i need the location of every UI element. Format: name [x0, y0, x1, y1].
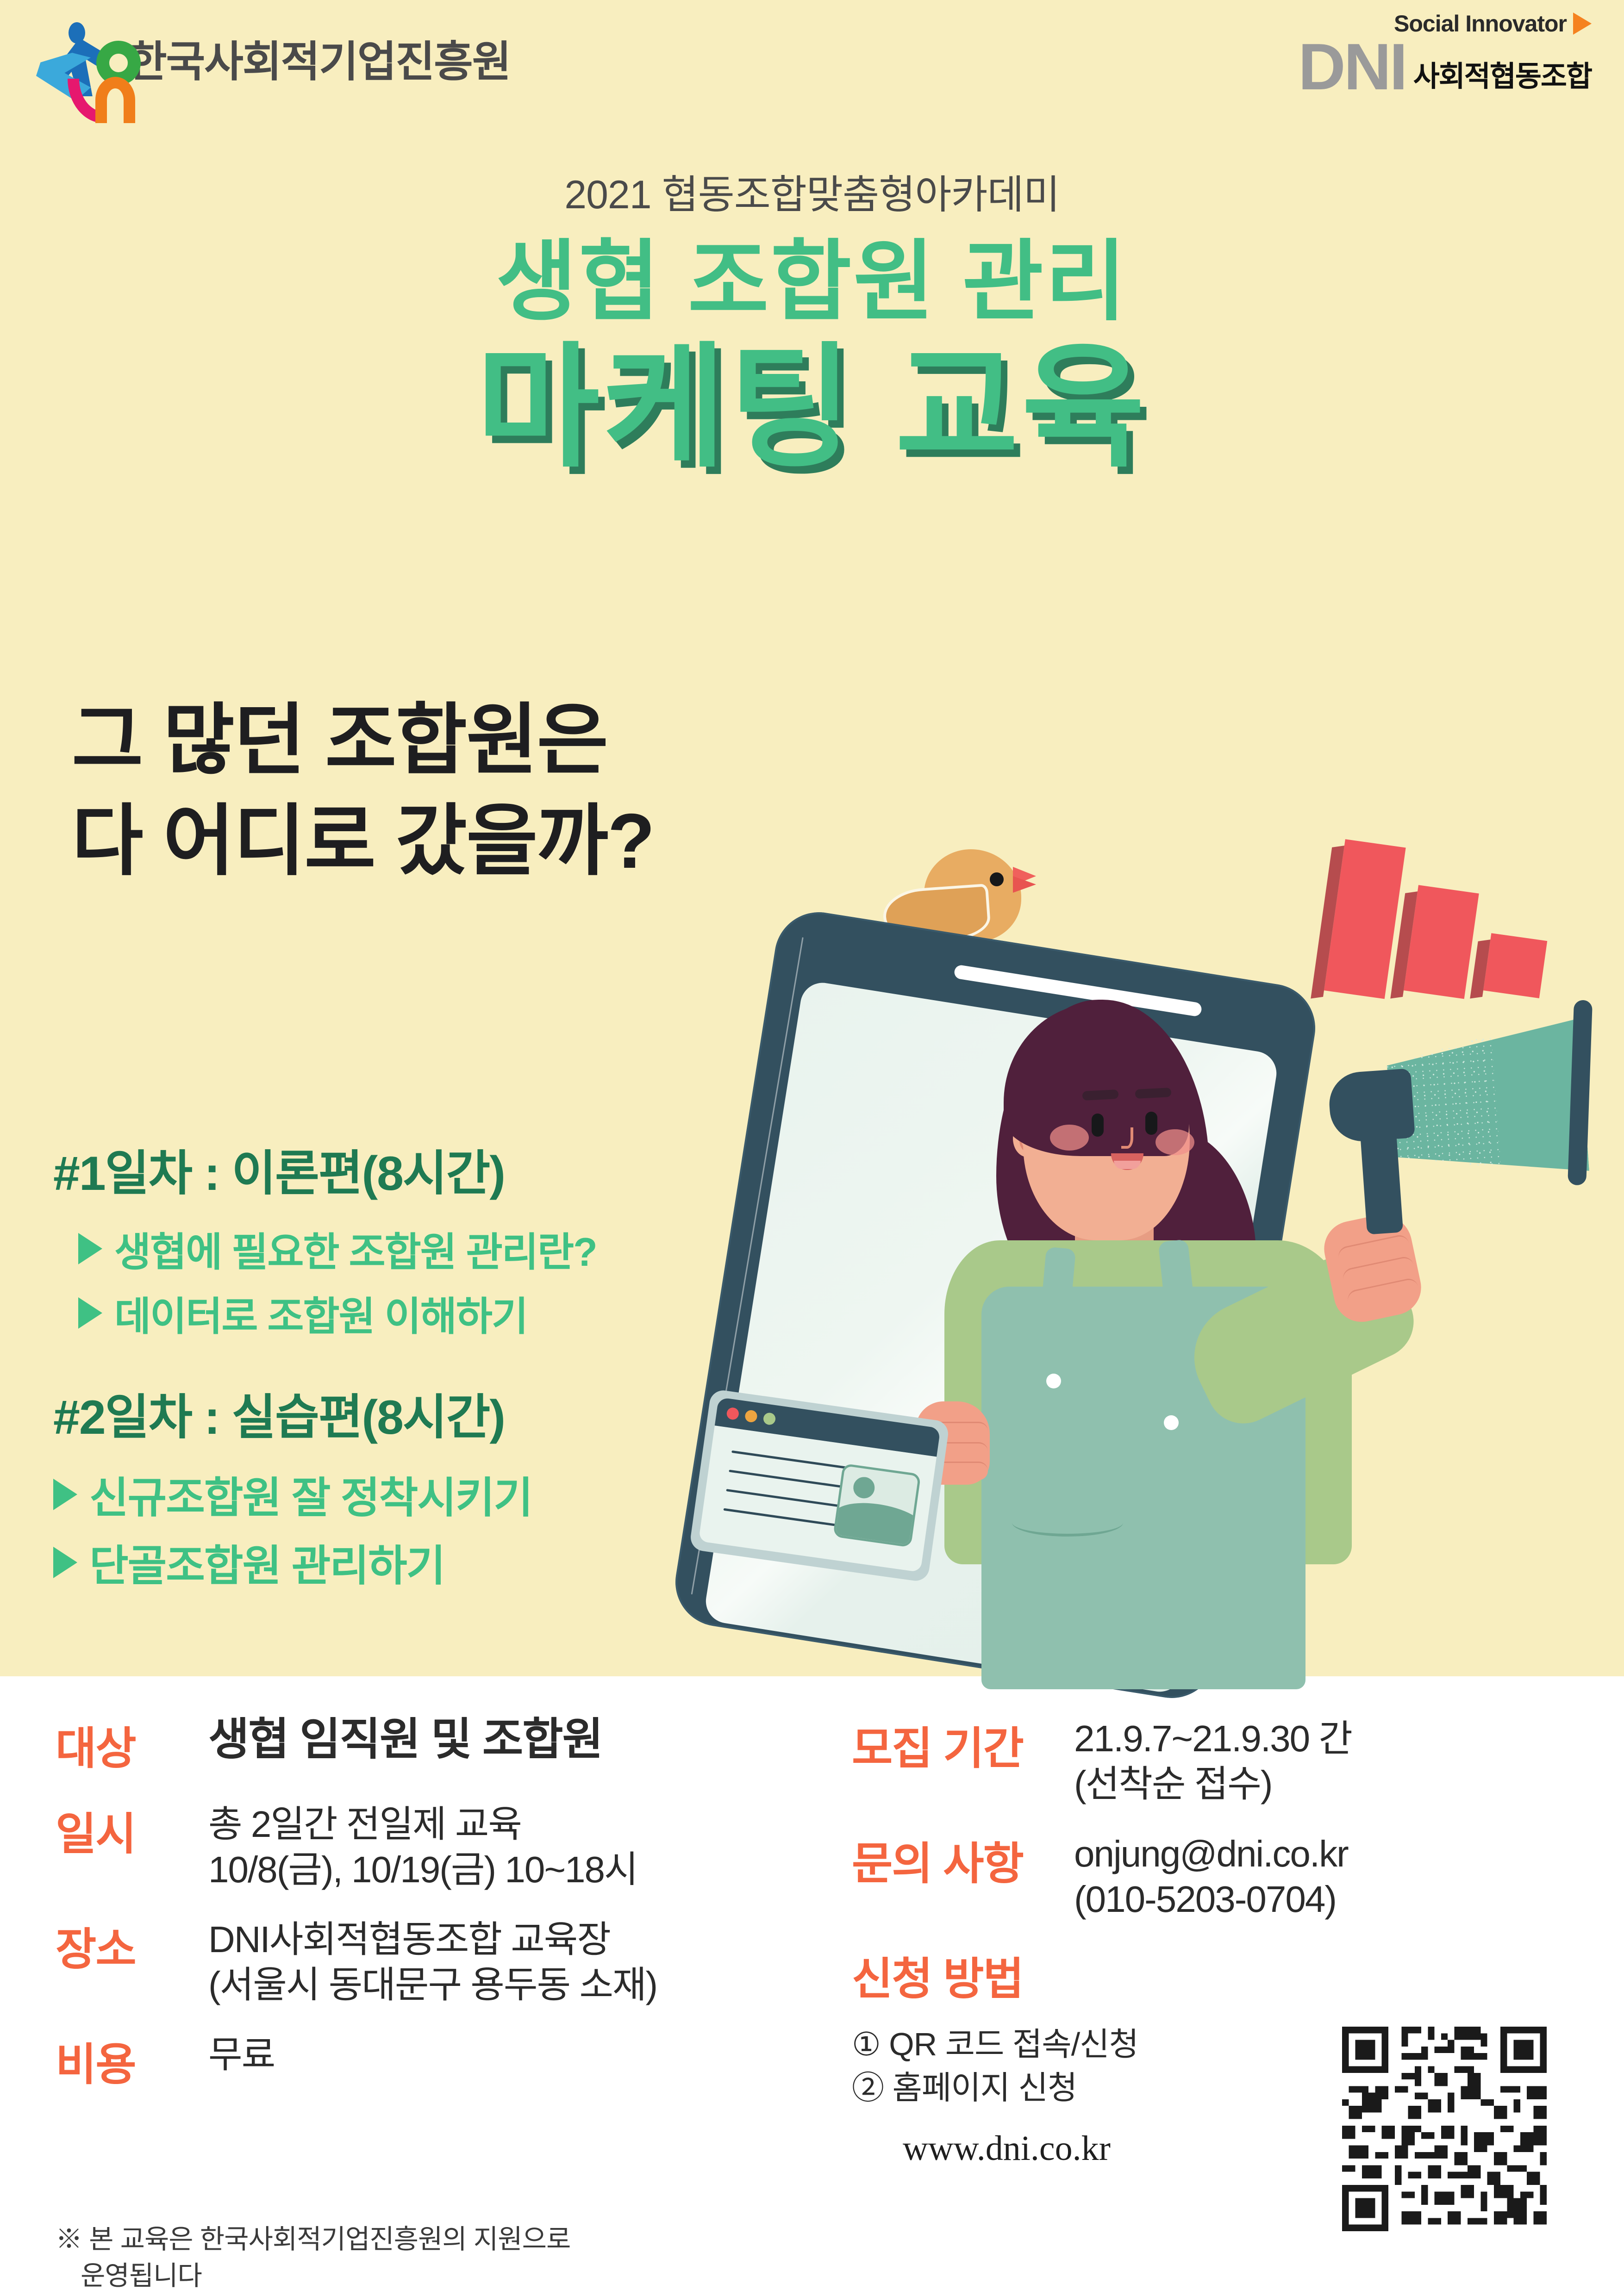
detail-value-target: 생협 임직원 및 조합원 — [208, 1712, 602, 1767]
tagline-line1: 그 많던 조합원은 — [72, 690, 654, 790]
detail-label-contact: 문의 사항 — [852, 1828, 1074, 1892]
detail-value-datetime: 총 2일간 전일제 교육 10/8(금), 10/19(금) 10~18시 — [208, 1798, 637, 1892]
triangle-bullet-icon — [53, 1547, 77, 1578]
details-right-column: 모집 기간 21.9.7~21.9.30 간 (선착순 접수) 문의 사항 on… — [852, 1712, 1593, 2169]
detail-value-venue: DNI사회적협동조합 교육장 (서울시 동대문구 용두동 소재) — [208, 1913, 657, 2007]
venue-line2: (서울시 동대문구 용두동 소재) — [208, 1962, 657, 2008]
detail-row-fee: 비용 무료 — [56, 2028, 806, 2093]
day2-item-2: 단골조합원 관리하기 — [53, 1531, 597, 1593]
day1-item-1-label: 생협에 필요한 조합원 관리란? — [114, 1220, 597, 1277]
day1-item-2: 데이터로 조합원 이해하기 — [78, 1284, 597, 1342]
hero-title-block: 생협 조합원 관리 마케팅 교육 — [0, 231, 1624, 483]
browser-minimize-dot-icon — [744, 1409, 758, 1423]
detail-label-target: 대상 — [56, 1712, 208, 1777]
detail-row-contact: 문의 사항 onjung@dni.co.kr (010-5203-0704) — [852, 1828, 1593, 1922]
detail-row-period: 모집 기간 21.9.7~21.9.30 간 (선착순 접수) — [852, 1712, 1593, 1806]
kosea-emblem-icon — [28, 14, 116, 102]
contact-email[interactable]: onjung@dni.co.kr — [1074, 1831, 1348, 1877]
triangle-bullet-icon — [53, 1479, 77, 1510]
detail-row-target: 대상 생협 임직원 및 조합원 — [56, 1712, 806, 1777]
megaphone-icon — [1301, 989, 1624, 1269]
chart-bar-2 — [1404, 885, 1479, 999]
qr-code-image — [1336, 2020, 1553, 2238]
datetime-line1: 총 2일간 전일제 교육 — [208, 1802, 637, 1847]
image-placeholder-icon — [833, 1463, 921, 1548]
triangle-bullet-icon — [78, 1297, 102, 1329]
curriculum-section: #1일차 : 이론편(8시간) 생협에 필요한 조합원 관리란? 데이터로 조합… — [53, 1134, 597, 1599]
detail-row-datetime: 일시 총 2일간 전일제 교육 10/8(금), 10/19(금) 10~18시 — [56, 1798, 806, 1892]
kosea-logo: 한국사회적기업진흥원 — [28, 14, 510, 102]
play-triangle-icon — [1573, 12, 1592, 35]
page-title-line1: 생협 조합원 관리 — [0, 231, 1624, 333]
day2-item-2-label: 단골조합원 관리하기 — [89, 1531, 444, 1593]
footnote-line1: ※ 본 교육은 한국사회적기업진흥원의 지원으로 — [56, 2221, 750, 2258]
detail-label-datetime: 일시 — [56, 1798, 208, 1862]
browser-close-dot-icon — [726, 1407, 739, 1420]
contact-phone: (010-5203-0704) — [1074, 1877, 1348, 1922]
detail-label-venue: 장소 — [56, 1913, 208, 1978]
page-title-line2: 마케팅 교육 — [0, 333, 1624, 483]
day1-item-2-label: 데이터로 조합원 이해하기 — [114, 1284, 527, 1342]
browser-window-icon — [689, 1389, 950, 1583]
dni-logo: Social Innovator DNI 사회적협동조합 — [1298, 10, 1592, 100]
datetime-line2: 10/8(금), 10/19(금) 10~18시 — [208, 1847, 637, 1892]
day1-item-1: 생협에 필요한 조합원 관리란? — [78, 1220, 597, 1277]
footnote-line2: 운영됩니다 — [56, 2258, 750, 2295]
venue-line1: DNI사회적협동조합 교육장 — [208, 1917, 657, 1962]
period-line2: (선착순 접수) — [1074, 1761, 1352, 1807]
program-subtitle: 2021 협동조합맞춤형아카데미 — [0, 162, 1624, 220]
kosea-logo-text: 한국사회적기업진흥원 — [128, 27, 510, 89]
detail-value-period: 21.9.7~21.9.30 간 (선착순 접수) — [1074, 1712, 1352, 1806]
dni-tagline: Social Innovator — [1394, 10, 1567, 37]
dni-wordmark: DNI — [1298, 34, 1406, 100]
detail-label-fee: 비용 — [56, 2028, 208, 2093]
apply-heading: 신청 방법 — [852, 1943, 1593, 2007]
dni-korean-name: 사회적협동조합 — [1413, 53, 1592, 100]
day2-item-1: 신규조합원 잘 정착시키기 — [53, 1463, 597, 1525]
footnote: ※ 본 교육은 한국사회적기업진흥원의 지원으로 운영됩니다 — [56, 2221, 750, 2295]
day1-heading: #1일차 : 이론편(8시간) — [53, 1134, 597, 1204]
hero-illustration — [694, 824, 1624, 1680]
tagline-line2: 다 어디로 갔을까? — [72, 790, 654, 891]
browser-maximize-dot-icon — [762, 1412, 776, 1425]
detail-row-venue: 장소 DNI사회적협동조합 교육장 (서울시 동대문구 용두동 소재) — [56, 1913, 806, 2007]
day2-item-1-label: 신규조합원 잘 정착시키기 — [89, 1463, 532, 1525]
hero-tagline: 그 많던 조합원은 다 어디로 갔을까? — [72, 690, 654, 892]
triangle-bullet-icon — [78, 1233, 102, 1264]
day2-heading: #2일차 : 실습편(8시간) — [53, 1378, 597, 1448]
details-left-column: 대상 생협 임직원 및 조합원 일시 총 2일간 전일제 교육 10/8(금),… — [56, 1712, 806, 2114]
qr-code[interactable] — [1336, 2020, 1553, 2238]
detail-label-period: 모집 기간 — [852, 1712, 1074, 1777]
declining-bar-chart-icon — [1296, 833, 1537, 990]
period-line1: 21.9.7~21.9.30 간 — [1074, 1716, 1352, 1761]
detail-value-fee: 무료 — [208, 2028, 275, 2078]
chart-bar-3 — [1483, 933, 1547, 998]
detail-value-contact: onjung@dni.co.kr (010-5203-0704) — [1074, 1828, 1348, 1922]
